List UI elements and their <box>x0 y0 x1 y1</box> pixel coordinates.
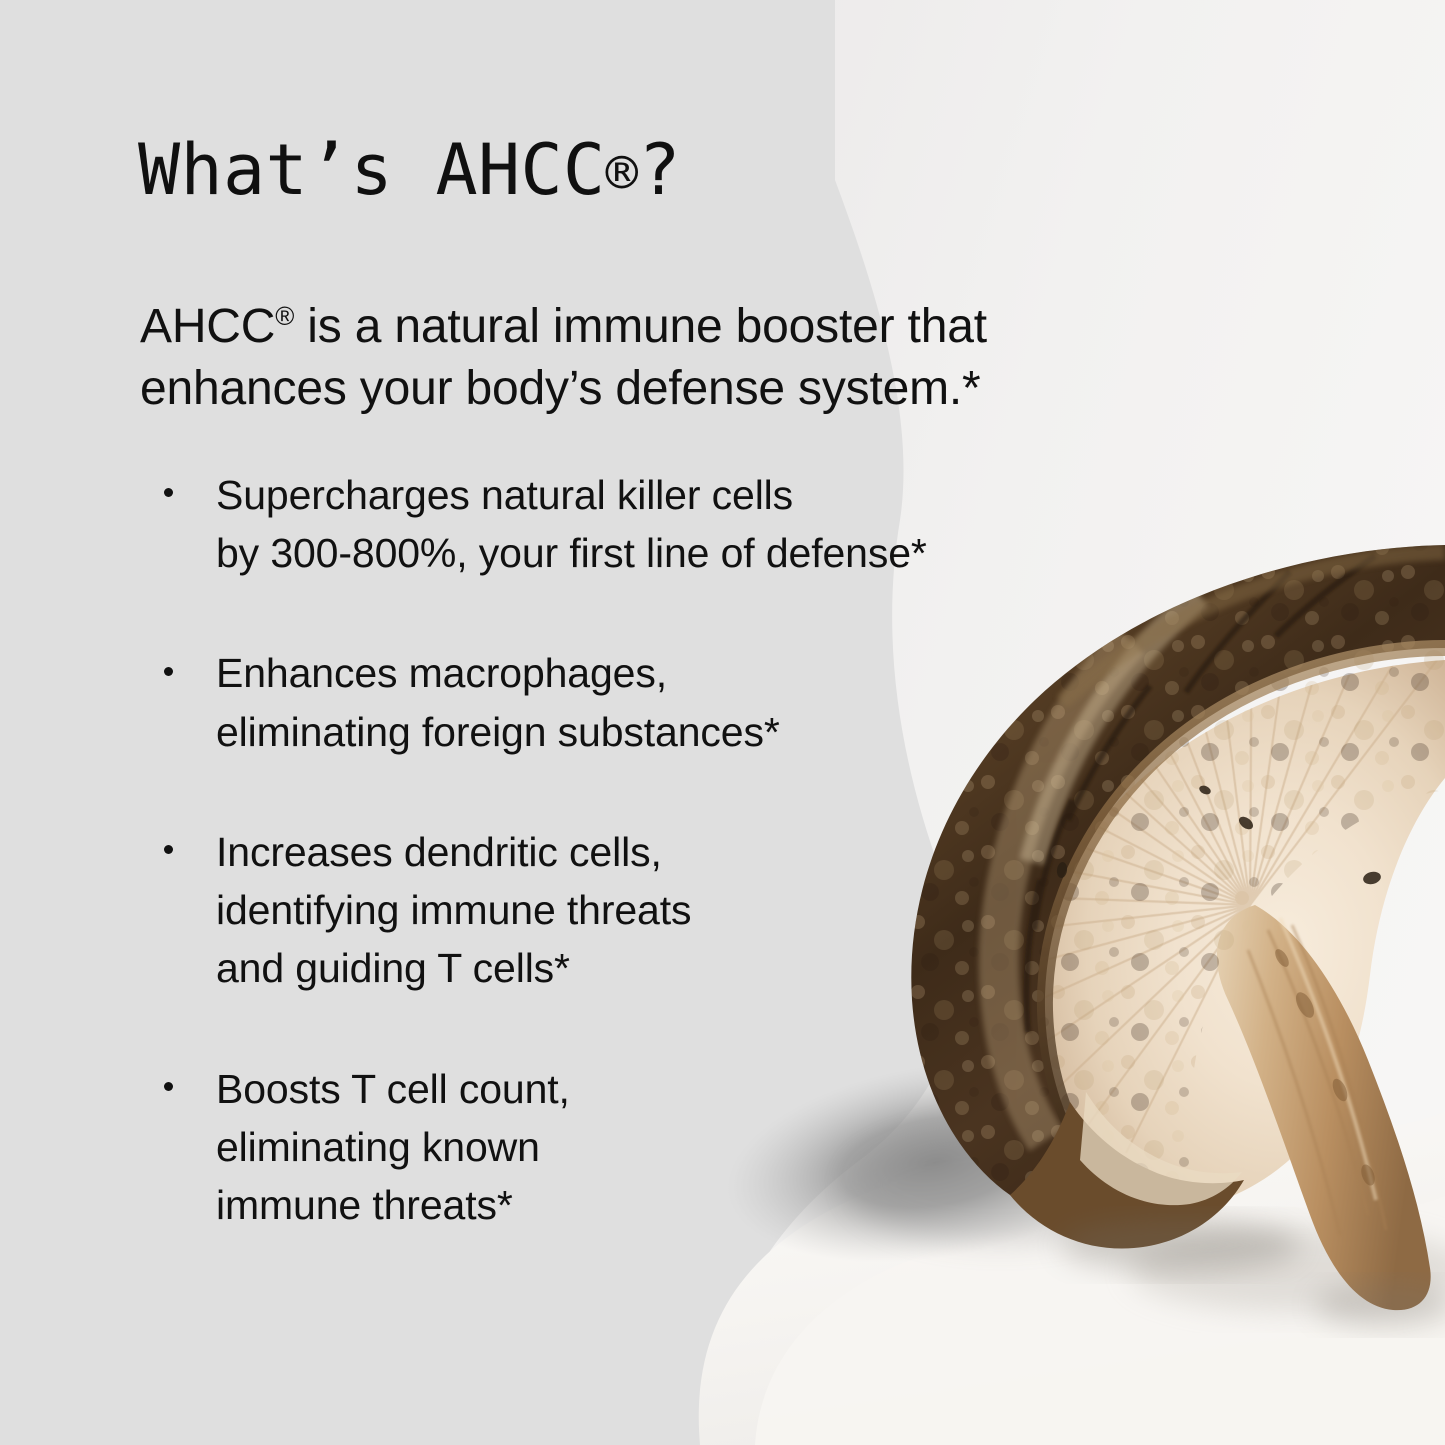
bullet-line: eliminating foreign substances* <box>216 703 1110 761</box>
text-content: What’s AHCC®? AHCC® is a natural immune … <box>0 0 1445 1445</box>
bullet-line: Boosts T cell count, <box>216 1060 1110 1118</box>
list-item: Boosts T cell count, eliminating known i… <box>160 1060 1110 1235</box>
lede-line-2: enhances your body’s defense system.* <box>140 362 981 415</box>
lede-paragraph: AHCC® is a natural immune booster thaten… <box>140 296 1200 421</box>
page-title: What’s AHCC®? <box>138 135 681 205</box>
bullet-line: identifying immune threats <box>216 881 1110 939</box>
list-item: Supercharges natural killer cells by 300… <box>160 466 1110 582</box>
bullet-line: Enhances macrophages, <box>216 644 1110 702</box>
page-title-main: What’s AHCC <box>138 129 605 211</box>
bullet-line: Increases dendritic cells, <box>216 823 1110 881</box>
bullet-line: by 300-800%, your first line of defense* <box>216 524 1110 582</box>
brand-name: AHCC <box>140 300 275 353</box>
bullet-dot-icon <box>164 845 173 854</box>
registered-trademark-icon: ® <box>605 142 638 205</box>
bullet-dot-icon <box>164 1082 173 1091</box>
bullet-line: and guiding T cells* <box>216 939 1110 997</box>
list-item: Enhances macrophages, eliminating foreig… <box>160 644 1110 760</box>
bullet-line: immune threats* <box>216 1176 1110 1234</box>
page-title-suffix: ? <box>638 129 681 211</box>
bullet-line: eliminating known <box>216 1118 1110 1176</box>
creative-canvas: What’s AHCC®? AHCC® is a natural immune … <box>0 0 1445 1445</box>
list-item: Increases dendritic cells, identifying i… <box>160 823 1110 998</box>
benefits-list: Supercharges natural killer cells by 300… <box>160 466 1110 1234</box>
lede-line-1: is a natural immune booster that <box>294 300 987 353</box>
bullet-dot-icon <box>164 488 173 497</box>
registered-trademark-icon: ® <box>275 303 294 331</box>
bullet-dot-icon <box>164 667 173 676</box>
bullet-line: Supercharges natural killer cells <box>216 466 1110 524</box>
